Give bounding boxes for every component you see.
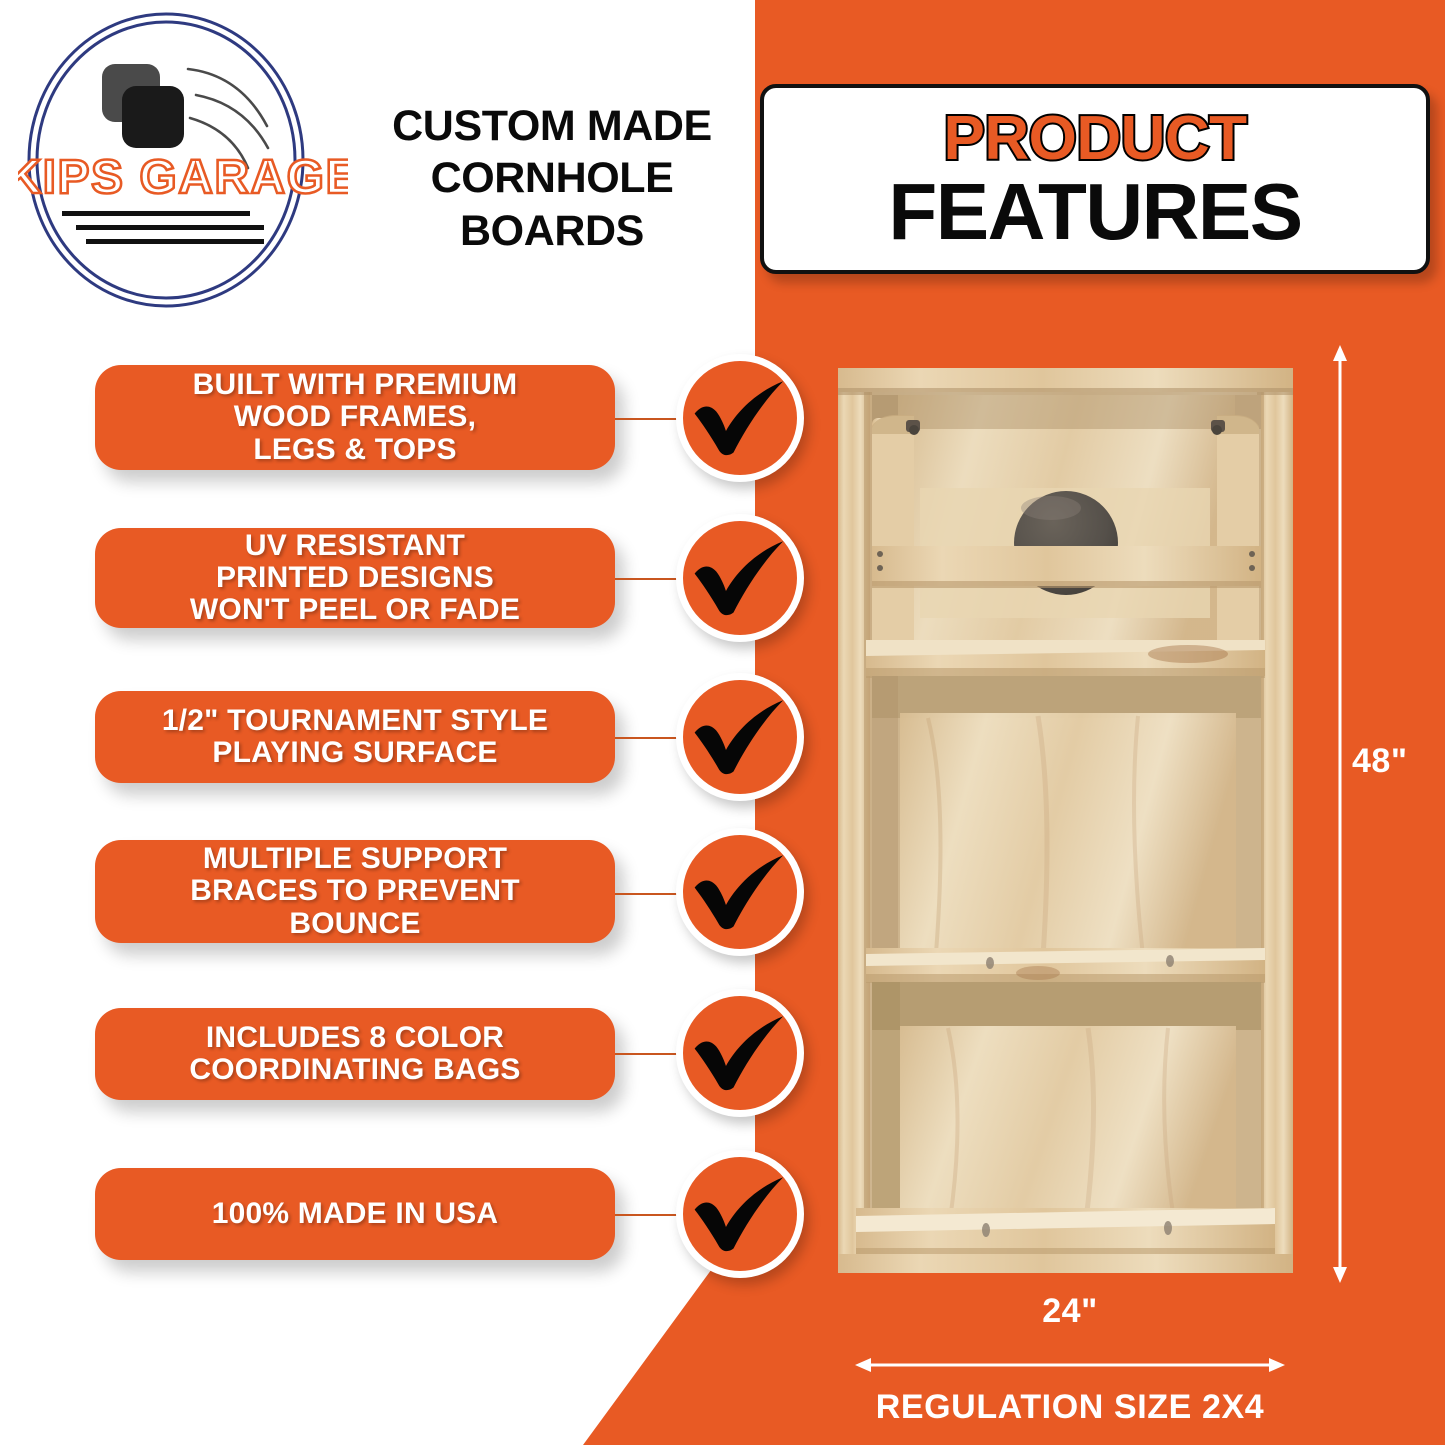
feature-line: BUILT WITH PREMIUM (193, 369, 518, 401)
feature-pill-uv-resistant[interactable]: UV RESISTANT PRINTED DESIGNS WON'T PEEL … (95, 528, 615, 628)
banner-title-product: PRODUCT (943, 108, 1246, 170)
feature-pill-text: 1/2" TOURNAMENT STYLE PLAYING SURFACE (144, 705, 566, 769)
page-title: CUSTOM MADE CORNHOLE BOARDS (352, 100, 752, 257)
page-title-line-2: CORNHOLE (352, 152, 752, 204)
feature-pill-text: BUILT WITH PREMIUM WOOD FRAMES, LEGS & T… (175, 369, 536, 465)
page-title-line-1: CUSTOM MADE (352, 100, 752, 152)
feature-line: BOUNCE (190, 908, 520, 940)
feature-line: LEGS & TOPS (193, 434, 518, 466)
feature-line: COORDINATING BAGS (189, 1054, 520, 1086)
feature-line: WON'T PEEL OR FADE (190, 594, 520, 626)
feature-line: PRINTED DESIGNS (190, 562, 520, 594)
feature-pill-text: INCLUDES 8 COLOR COORDINATING BAGS (171, 1022, 538, 1086)
product-features-banner: PRODUCT FEATURES (760, 84, 1430, 274)
feature-line: 100% MADE IN USA (212, 1198, 499, 1230)
height-dimension-arrow (1329, 345, 1351, 1283)
checkmark-icon (686, 364, 794, 472)
feature-pill-text: UV RESISTANT PRINTED DESIGNS WON'T PEEL … (172, 530, 538, 626)
feature-pill-premium-wood[interactable]: BUILT WITH PREMIUM WOOD FRAMES, LEGS & T… (95, 365, 615, 470)
feature-line: WOOD FRAMES, (193, 401, 518, 433)
checkmark-badge-4 (676, 828, 804, 956)
checkmark-icon (686, 1160, 794, 1268)
feature-pill-support-braces[interactable]: MULTIPLE SUPPORT BRACES TO PREVENT BOUNC… (95, 840, 615, 943)
checkmark-icon (686, 999, 794, 1107)
logo-brand-text: SKIPS GARAGE (18, 151, 348, 204)
width-dimension-arrow (855, 1355, 1285, 1375)
feature-pill-included-bags[interactable]: INCLUDES 8 COLOR COORDINATING BAGS (95, 1008, 615, 1100)
checkmark-icon (686, 838, 794, 946)
checkmark-badge-1 (676, 354, 804, 482)
height-dimension-label: 48" (1352, 742, 1407, 781)
checkmark-badge-5 (676, 989, 804, 1117)
feature-line: MULTIPLE SUPPORT (190, 843, 520, 875)
regulation-size-note: REGULATION SIZE 2X4 (790, 1388, 1350, 1427)
checkmark-icon (686, 524, 794, 632)
feature-line: 1/2" TOURNAMENT STYLE (162, 705, 548, 737)
feature-pill-made-in-usa[interactable]: 100% MADE IN USA (95, 1168, 615, 1260)
skips-garage-logo: SKIPS GARAGE (18, 8, 348, 318)
cornhole-board-photo (838, 368, 1293, 1273)
feature-line: UV RESISTANT (190, 530, 520, 562)
checkmark-badge-6 (676, 1150, 804, 1278)
feature-line: INCLUDES 8 COLOR (189, 1022, 520, 1054)
feature-pill-tournament-surface[interactable]: 1/2" TOURNAMENT STYLE PLAYING SURFACE (95, 691, 615, 783)
banner-title-features: FEATURES (888, 174, 1301, 250)
feature-line: PLAYING SURFACE (162, 737, 548, 769)
checkmark-badge-2 (676, 514, 804, 642)
feature-pill-text: 100% MADE IN USA (194, 1198, 517, 1230)
checkmark-icon (686, 683, 794, 791)
checkmark-badge-3 (676, 673, 804, 801)
feature-line: BRACES TO PREVENT (190, 875, 520, 907)
page-title-line-3: BOARDS (352, 205, 752, 257)
feature-pill-text: MULTIPLE SUPPORT BRACES TO PREVENT BOUNC… (172, 843, 538, 939)
infographic-page: SKIPS GARAGE CUSTOM MADE CORNHOLE BOARDS… (0, 0, 1445, 1445)
width-dimension-label: 24" (855, 1292, 1285, 1331)
